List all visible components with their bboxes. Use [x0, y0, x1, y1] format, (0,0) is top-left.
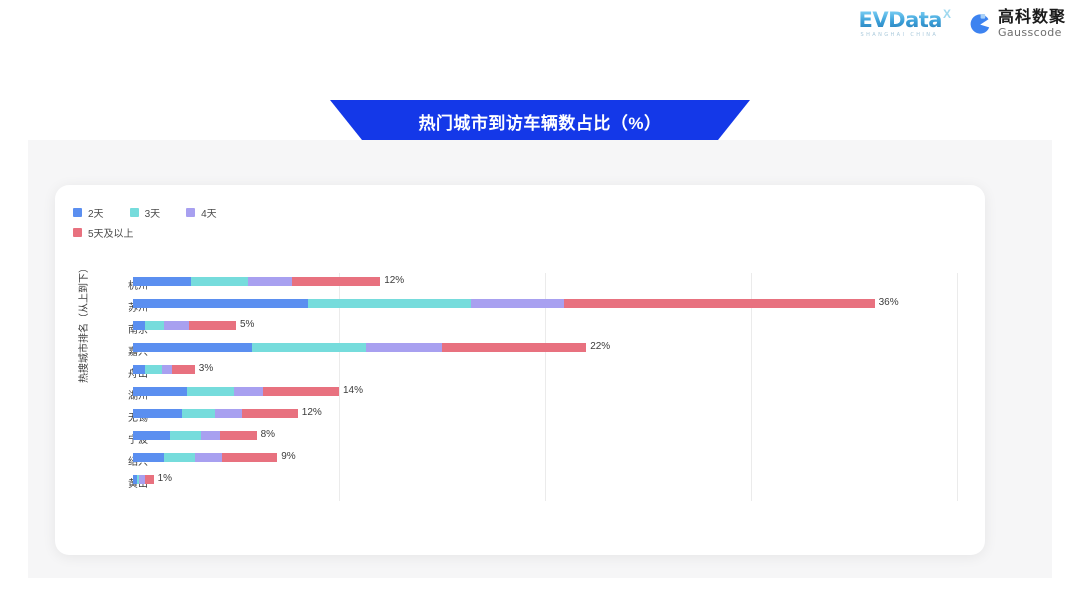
legend-label: 3天 — [145, 205, 161, 220]
bar-segment-3 — [292, 277, 381, 286]
bar-row[interactable]: 南京5% — [55, 317, 985, 339]
bar-segment-0 — [133, 343, 252, 352]
bar-row[interactable]: 舟山3% — [55, 361, 985, 383]
legend-label: 2天 — [88, 205, 104, 220]
gausscode-text: 高科数聚 Gausscode — [998, 10, 1066, 38]
bar-row[interactable]: 绍兴9% — [55, 449, 985, 471]
bar-value-label: 12% — [384, 275, 404, 286]
legend-item-2[interactable]: 4天 — [186, 205, 217, 220]
bar-segment-2 — [248, 277, 291, 286]
bar-segment-1 — [182, 409, 215, 418]
bar-segment-3 — [145, 475, 153, 484]
evdata-logo-subtitle: SHANGHAI CHINA — [861, 33, 939, 38]
bar-segment-1 — [191, 277, 249, 286]
stacked-bar[interactable] — [133, 321, 236, 330]
legend-item-0[interactable]: 2天 — [73, 205, 104, 220]
bar-segment-3 — [242, 409, 298, 418]
stacked-bar[interactable] — [133, 299, 875, 308]
bar-row[interactable]: 无锡12% — [55, 405, 985, 427]
legend-label: 5天及以上 — [88, 225, 134, 240]
bar-segment-2 — [234, 387, 263, 396]
legend-swatch-icon — [186, 208, 195, 217]
bar-segment-3 — [220, 431, 257, 440]
bar-segment-1 — [252, 343, 365, 352]
stacked-bar[interactable] — [133, 475, 154, 484]
stacked-bar[interactable] — [133, 409, 298, 418]
bar-segment-0 — [133, 431, 170, 440]
bar-row[interactable]: 嘉兴22% — [55, 339, 985, 361]
bar-row[interactable]: 黄山1% — [55, 471, 985, 493]
bar-segment-0 — [133, 321, 145, 330]
bar-segment-3 — [564, 299, 875, 308]
stacked-bar[interactable] — [133, 387, 339, 396]
bar-segment-3 — [263, 387, 339, 396]
bar-rows: 杭州12%苏州36%南京5%嘉兴22%舟山3%湖州14%无锡12%宁波8%绍兴9… — [55, 265, 985, 510]
chart-card: 2天3天4天5天及以上 热搜城市排名（从上到下） 杭州12%苏州36%南京5%嘉… — [55, 185, 985, 555]
logo-group: EVData X SHANGHAI CHINA 高科数聚 Gausscode — [859, 10, 1066, 38]
bar-segment-0 — [133, 277, 191, 286]
stacked-bar[interactable] — [133, 431, 257, 440]
bar-segment-2 — [201, 431, 220, 440]
legend-label: 4天 — [201, 205, 217, 220]
stacked-bar[interactable] — [133, 453, 277, 462]
bar-value-label: 22% — [590, 341, 610, 352]
gausscode-logo: 高科数聚 Gausscode — [967, 10, 1066, 38]
evdata-x-icon: X — [943, 8, 951, 20]
bar-segment-2 — [471, 299, 564, 308]
bar-value-label: 12% — [302, 407, 322, 418]
bar-segment-3 — [172, 365, 195, 374]
gausscode-en-name: Gausscode — [998, 27, 1066, 39]
bar-row[interactable]: 苏州36% — [55, 295, 985, 317]
bar-segment-1 — [164, 453, 195, 462]
chart-legend: 2天3天4天5天及以上 — [73, 205, 333, 245]
bar-value-label: 3% — [199, 363, 213, 374]
bar-segment-1 — [187, 387, 234, 396]
bar-segment-2 — [366, 343, 442, 352]
evdata-logo-text: EVData — [859, 10, 942, 31]
bar-row[interactable]: 湖州14% — [55, 383, 985, 405]
legend-swatch-icon — [73, 208, 82, 217]
legend-item-3[interactable]: 5天及以上 — [73, 225, 333, 240]
evdata-logo-row: EVData X — [859, 10, 951, 31]
page-header: EVData X SHANGHAI CHINA 高科数聚 Gausscode — [0, 0, 1080, 56]
bar-row[interactable]: 杭州12% — [55, 273, 985, 295]
bar-segment-1 — [145, 321, 164, 330]
legend-swatch-icon — [130, 208, 139, 217]
bar-segment-3 — [189, 321, 236, 330]
bar-segment-2 — [164, 321, 189, 330]
bar-value-label: 1% — [158, 473, 172, 484]
bar-segment-1 — [145, 365, 161, 374]
bar-segment-0 — [133, 453, 164, 462]
gausscode-mark-icon — [967, 12, 992, 37]
bar-segment-0 — [133, 299, 308, 308]
stacked-bar[interactable] — [133, 365, 195, 374]
legend-swatch-icon — [73, 228, 82, 237]
title-banner: 热门城市到访车辆数占比（%） — [330, 100, 750, 142]
bar-segment-3 — [442, 343, 586, 352]
bar-value-label: 9% — [281, 451, 295, 462]
chart-plot-area: 热搜城市排名（从上到下） 杭州12%苏州36%南京5%嘉兴22%舟山3%湖州14… — [55, 265, 985, 525]
bar-segment-1 — [170, 431, 201, 440]
bar-segment-2 — [162, 365, 172, 374]
bar-segment-0 — [133, 409, 182, 418]
gausscode-cn-name: 高科数聚 — [998, 10, 1066, 27]
bar-segment-2 — [215, 409, 242, 418]
stacked-bar[interactable] — [133, 343, 586, 352]
bar-value-label: 5% — [240, 319, 254, 330]
stacked-bar[interactable] — [133, 277, 380, 286]
bar-segment-0 — [133, 365, 145, 374]
evdata-logo: EVData X SHANGHAI CHINA — [859, 10, 951, 38]
bar-value-label: 14% — [343, 385, 363, 396]
bar-segment-0 — [133, 387, 187, 396]
bar-segment-1 — [308, 299, 471, 308]
page-title: 热门城市到访车辆数占比（%） — [418, 109, 661, 134]
legend-item-1[interactable]: 3天 — [130, 205, 161, 220]
bar-value-label: 36% — [879, 297, 899, 308]
bar-segment-2 — [195, 453, 222, 462]
bar-row[interactable]: 宁波8% — [55, 427, 985, 449]
bar-value-label: 8% — [261, 429, 275, 440]
title-ribbon-shape: 热门城市到访车辆数占比（%） — [330, 100, 750, 142]
bar-segment-3 — [222, 453, 278, 462]
